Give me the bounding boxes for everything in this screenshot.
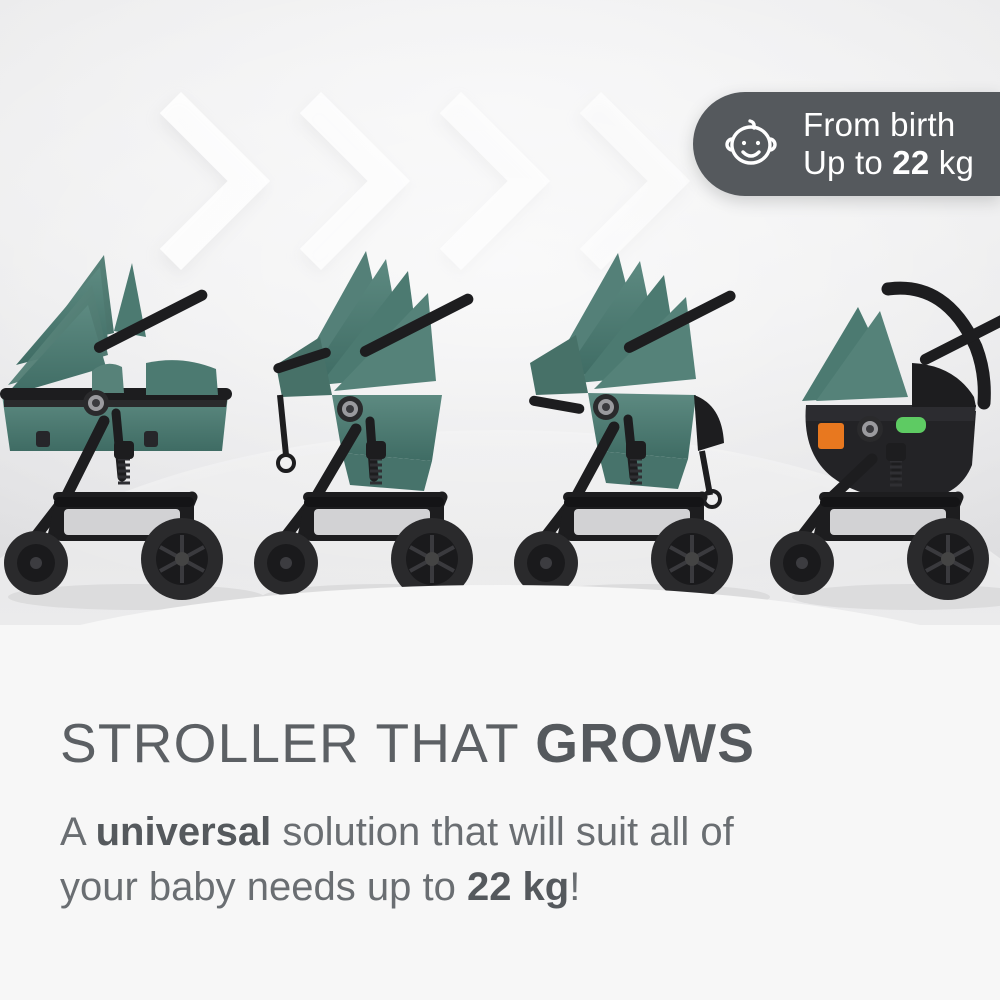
subcopy-part3: ! xyxy=(569,865,580,909)
subcopy-part1: A xyxy=(60,810,96,854)
badge-line-2-suffix: kg xyxy=(929,144,974,181)
badge-line-1: From birth xyxy=(803,106,955,143)
car-seat-canopy xyxy=(802,307,908,401)
canopy xyxy=(4,255,146,397)
badge-line-2-prefix: Up to xyxy=(803,144,892,181)
warning-label xyxy=(818,423,844,449)
subcopy: A universal solution that will suit all … xyxy=(60,805,820,915)
wheel-front xyxy=(770,531,834,595)
baby-face-icon xyxy=(719,112,783,176)
age-weight-badge: From birth Up to 22 kg xyxy=(693,92,1000,196)
wheel-rear xyxy=(651,518,733,600)
page-title: STROLLER THAT GROWS xyxy=(60,711,755,775)
headline-bold: GROWS xyxy=(535,712,755,774)
product-config-carrycot xyxy=(0,245,258,625)
subcopy-bold-universal: universal xyxy=(96,810,272,854)
wheel-rear xyxy=(141,518,223,600)
product-feature-banner: From birth Up to 22 kg STROLLER THAT GRO… xyxy=(0,0,1000,1000)
headline-light: STROLLER THAT xyxy=(60,712,535,774)
subcopy-bold-weight: 22 kg xyxy=(467,865,569,909)
caption-area: STROLLER THAT GROWS A universal solution… xyxy=(0,625,1000,1000)
product-config-forward-facing-seat xyxy=(506,245,768,625)
badge-text: From birth Up to 22 kg xyxy=(803,106,974,181)
wheel-front xyxy=(254,531,318,595)
release-button xyxy=(896,417,926,433)
wheel-rear xyxy=(907,518,989,600)
wheel-front xyxy=(4,531,68,595)
product-config-rear-facing-seat xyxy=(246,245,508,625)
badge-weight-value: 22 xyxy=(892,144,929,181)
product-config-infant-car-seat xyxy=(762,245,1000,625)
